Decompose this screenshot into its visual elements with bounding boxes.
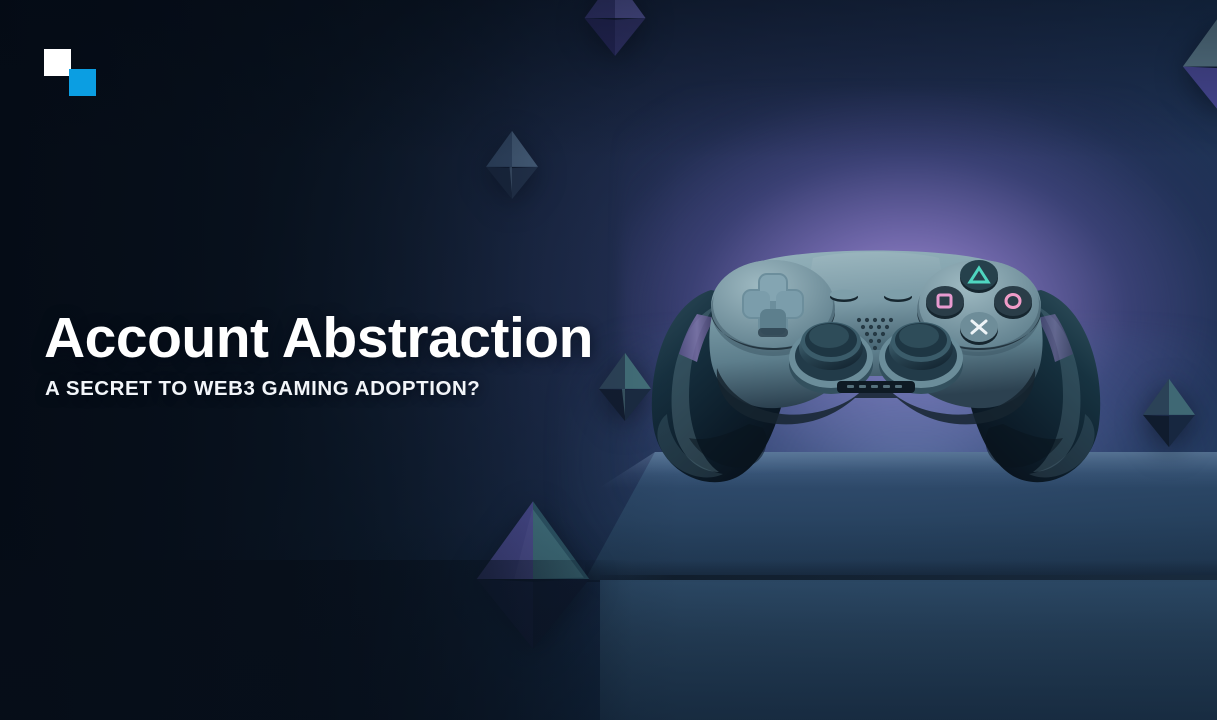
page-subtitle: A SECRET TO WEB3 GAMING ADOPTION? <box>45 379 480 400</box>
page-title: Account Abstraction <box>44 310 593 367</box>
logo-square-white <box>44 49 71 76</box>
brand-logo[interactable] <box>44 49 96 95</box>
banner-canvas: Account Abstraction A SECRET TO WEB3 GAM… <box>0 0 1217 720</box>
logo-square-blue <box>69 69 96 96</box>
